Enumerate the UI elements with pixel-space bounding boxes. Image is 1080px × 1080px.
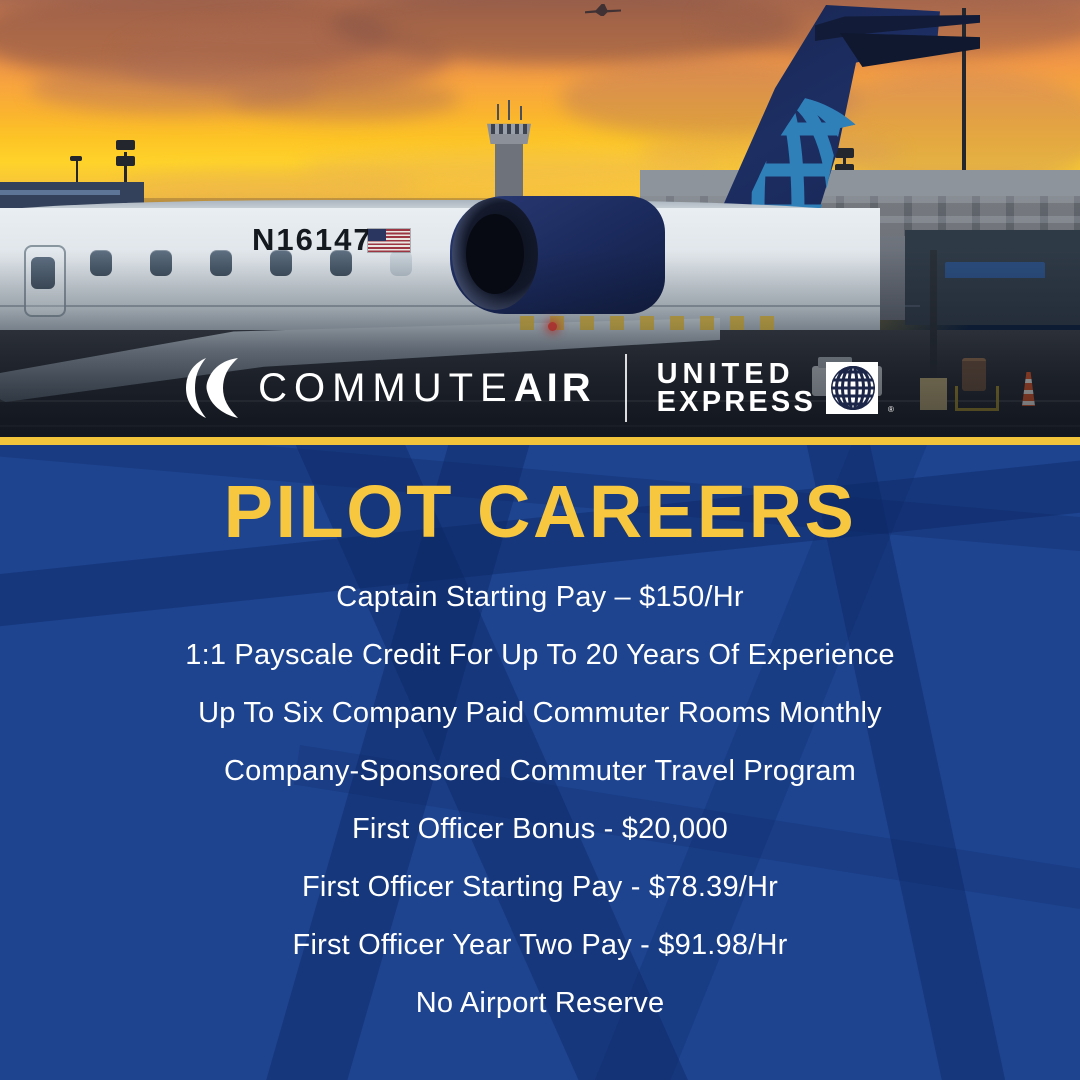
page-title: PILOT CAREERS bbox=[224, 475, 857, 549]
engine-inlet bbox=[452, 198, 538, 310]
united-word: UNITED bbox=[657, 360, 816, 388]
light-pole-head bbox=[116, 140, 135, 150]
cabin-window bbox=[90, 250, 112, 276]
light-pole-head bbox=[70, 156, 82, 161]
aircraft-beacon-light bbox=[548, 322, 557, 331]
wing-flap-track bbox=[520, 316, 780, 330]
vertical-divider bbox=[625, 354, 627, 422]
united-express-wordmark: UNITED EXPRESS bbox=[657, 360, 816, 416]
cabin-window bbox=[210, 250, 232, 276]
commuteair-k-mark-icon bbox=[186, 358, 238, 418]
united-globe-icon bbox=[826, 362, 878, 414]
us-flag-icon bbox=[368, 229, 410, 252]
cloud bbox=[120, 170, 420, 198]
benefit-item: First Officer Starting Pay - $78.39/Hr bbox=[302, 873, 778, 902]
benefit-item: 1:1 Payscale Credit For Up To 20 Years O… bbox=[185, 641, 894, 670]
logo-lockup-bar: COMMUTEAIR UNITED EXPRESS bbox=[0, 352, 1080, 424]
apron-marking bbox=[0, 425, 1080, 427]
pilot-careers-poster: N16147 COMMUTEAIR bbox=[0, 0, 1080, 1080]
commuteair-word-light: COMMUTE bbox=[258, 366, 514, 410]
cloud bbox=[230, 78, 460, 120]
benefit-item: First Officer Year Two Pay - $91.98/Hr bbox=[293, 931, 788, 960]
benefit-item: Company-Sponsored Commuter Travel Progra… bbox=[224, 757, 856, 786]
united-express-lockup: UNITED EXPRESS bbox=[657, 360, 894, 416]
commuteair-wordmark: COMMUTEAIR bbox=[258, 368, 595, 408]
cabin-window bbox=[150, 250, 172, 276]
registered-trademark-mark: ® bbox=[888, 405, 894, 414]
info-panel: PILOT CAREERS Captain Starting Pay – $15… bbox=[0, 445, 1080, 1080]
fuselage-line bbox=[0, 305, 920, 307]
aircraft-registration: N16147 bbox=[252, 222, 373, 258]
benefit-item: First Officer Bonus - $20,000 bbox=[352, 815, 728, 844]
benefits-list: Captain Starting Pay – $150/Hr 1:1 Paysc… bbox=[0, 583, 1080, 1018]
benefit-item: Captain Starting Pay – $150/Hr bbox=[336, 583, 743, 612]
aircraft-exit-door bbox=[24, 245, 66, 317]
cabin-window bbox=[390, 250, 412, 276]
benefit-item: No Airport Reserve bbox=[416, 989, 665, 1018]
benefit-item: Up To Six Company Paid Commuter Rooms Mo… bbox=[198, 699, 882, 728]
light-pole-head bbox=[116, 156, 135, 166]
commuteair-word-bold: AIR bbox=[514, 366, 595, 410]
express-word: EXPRESS bbox=[657, 388, 816, 416]
gold-divider-rule bbox=[0, 437, 1080, 445]
commuteair-lockup: COMMUTEAIR bbox=[186, 358, 595, 418]
terminal-awning bbox=[945, 262, 1045, 278]
